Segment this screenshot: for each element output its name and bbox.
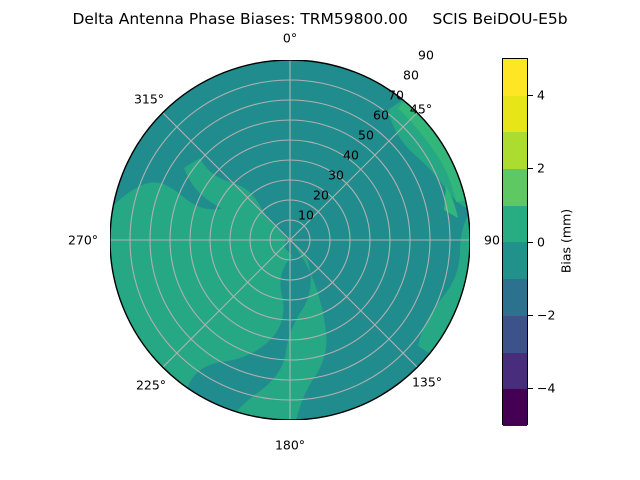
angular-tick-225: 225°: [136, 378, 166, 393]
colorbar-segment: [503, 242, 527, 279]
colorbar-segment: [503, 279, 527, 316]
polar-axes[interactable]: 0° 45° 90 135° 180° 225° 270° 315° 10 20…: [110, 60, 470, 420]
colorbar-tick-label: 2: [537, 161, 545, 176]
colorbar-tick-label: −2: [537, 307, 555, 322]
colorbar-tick-label: 0: [537, 234, 545, 249]
colorbar-segment: [503, 316, 527, 353]
page-title: Delta Antenna Phase Biases: TRM59800.00 …: [0, 10, 640, 28]
colorbar-segment: [503, 353, 527, 390]
radial-tick-80: 80: [403, 68, 419, 83]
radial-tick-50: 50: [358, 128, 374, 143]
angular-tick-0: 0°: [283, 31, 297, 46]
angular-tick-270: 270°: [68, 233, 98, 248]
matplotlib-figure: Delta Antenna Phase Biases: TRM59800.00 …: [0, 0, 640, 480]
colorbar-tick-label: −4: [537, 381, 555, 396]
radial-tick-90: 90: [418, 48, 434, 63]
colorbar-segment: [503, 96, 527, 133]
colorbar-tick: [528, 315, 533, 316]
radial-tick-60: 60: [373, 108, 389, 123]
colorbar-segment: [503, 169, 527, 206]
colorbar[interactable]: 420−2−4: [502, 58, 528, 425]
colorbar-segment: [503, 389, 527, 426]
colorbar-segment: [503, 206, 527, 243]
angular-tick-90: 90: [484, 233, 500, 248]
colorbar-segment: [503, 132, 527, 169]
radial-tick-70: 70: [388, 88, 404, 103]
colorbar-tick: [528, 168, 533, 169]
colorbar-gradient: [502, 58, 528, 425]
colorbar-tick: [528, 388, 533, 389]
angular-tick-45: 45°: [410, 102, 432, 117]
angular-tick-315: 315°: [134, 92, 164, 107]
angular-tick-135: 135°: [412, 375, 442, 390]
radial-tick-30: 30: [328, 168, 344, 183]
angular-tick-180: 180°: [275, 438, 305, 453]
radial-tick-20: 20: [313, 188, 329, 203]
colorbar-tick: [528, 95, 533, 96]
colorbar-tick-label: 4: [537, 87, 545, 102]
radial-tick-40: 40: [343, 148, 359, 163]
radial-tick-10: 10: [298, 208, 314, 223]
colorbar-tick: [528, 242, 533, 243]
colorbar-axis-label: Bias (mm): [559, 209, 574, 273]
colorbar-segment: [503, 59, 527, 96]
